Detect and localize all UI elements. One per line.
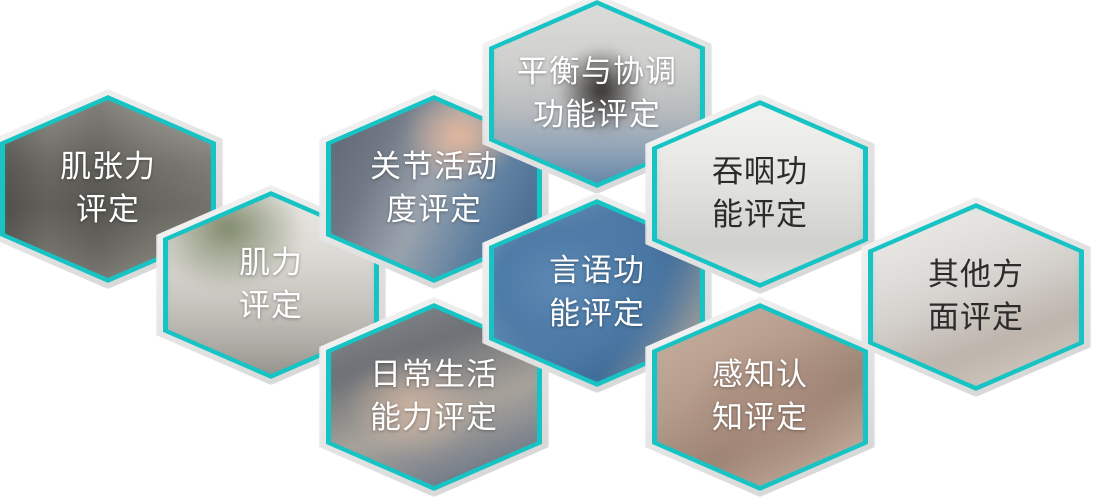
hexagon-infographic: 肌张力评定肌力评定关节活动度评定日常生活能力评定平衡与协调功能评定言语功能评定吞… — [0, 0, 1095, 501]
